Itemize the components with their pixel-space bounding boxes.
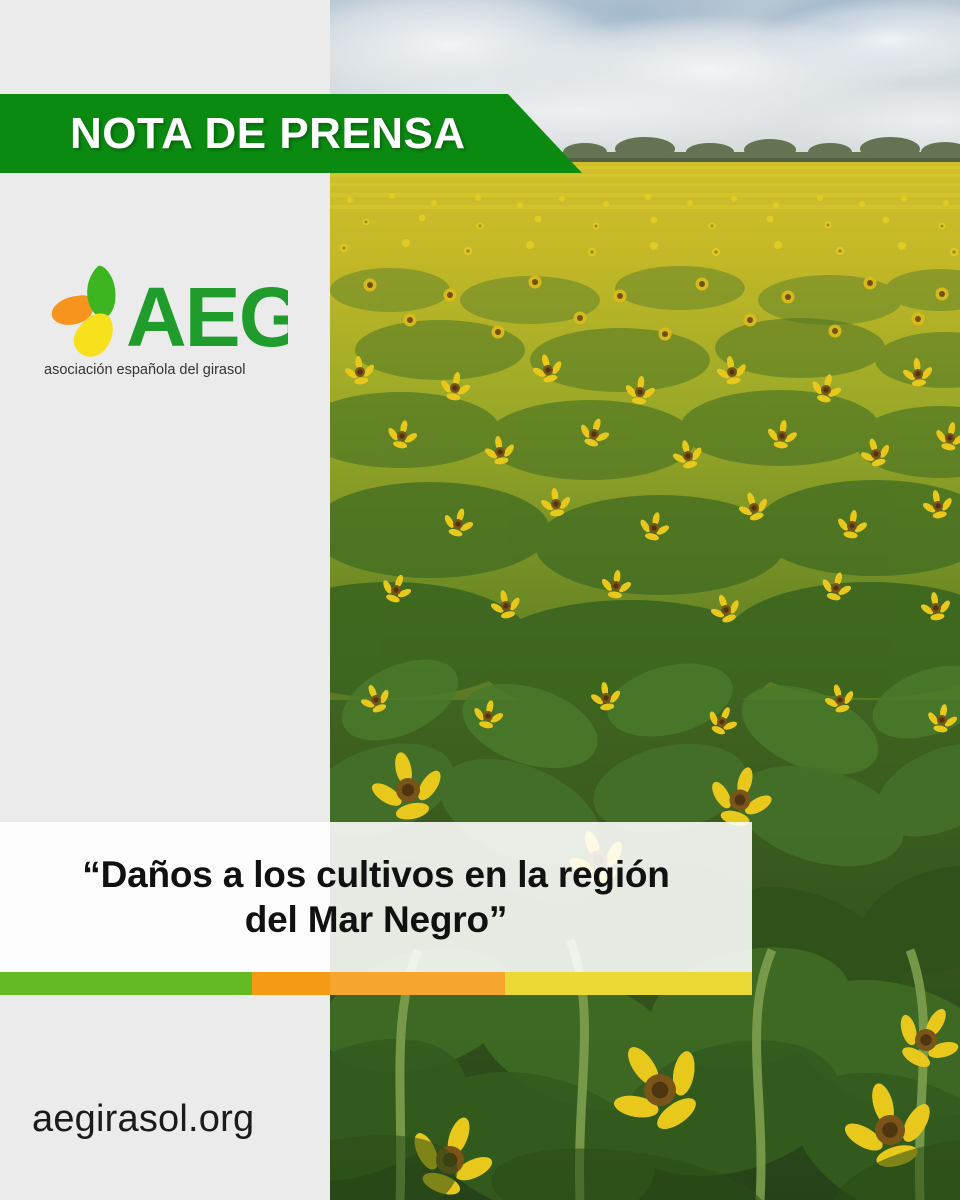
photo-illustration [330, 0, 960, 1200]
headline-title: “Daños a los cultivos en la región del M… [56, 852, 695, 942]
logo-tagline: asociación española del girasol [44, 362, 246, 378]
logo-wordmark: AEG [126, 270, 288, 364]
press-release-poster: NOTA DE PRENSA AEG asociación española d… [0, 0, 960, 1200]
aeg-logo-svg: AEG asociación española del girasol [38, 258, 288, 383]
left-background-panel [0, 0, 330, 1200]
aeg-logo[interactable]: AEG asociación española del girasol [38, 258, 288, 383]
banner-label: NOTA DE PRENSA [70, 109, 466, 159]
sunflower-field-photo [330, 0, 960, 1200]
headline-panel: “Daños a los cultivos en la región del M… [0, 822, 752, 972]
website-url[interactable]: aegirasol.org [32, 1098, 254, 1141]
color-bar-segment-yellow [505, 972, 752, 995]
accent-color-bar [0, 972, 752, 995]
color-bar-segment-green [0, 972, 252, 995]
headline-line-2: del Mar Negro” [245, 899, 507, 940]
color-bar-segment-orange [252, 972, 505, 995]
press-release-banner: NOTA DE PRENSA [0, 94, 582, 173]
headline-line-1: “Daños a los cultivos en la región [82, 854, 669, 895]
